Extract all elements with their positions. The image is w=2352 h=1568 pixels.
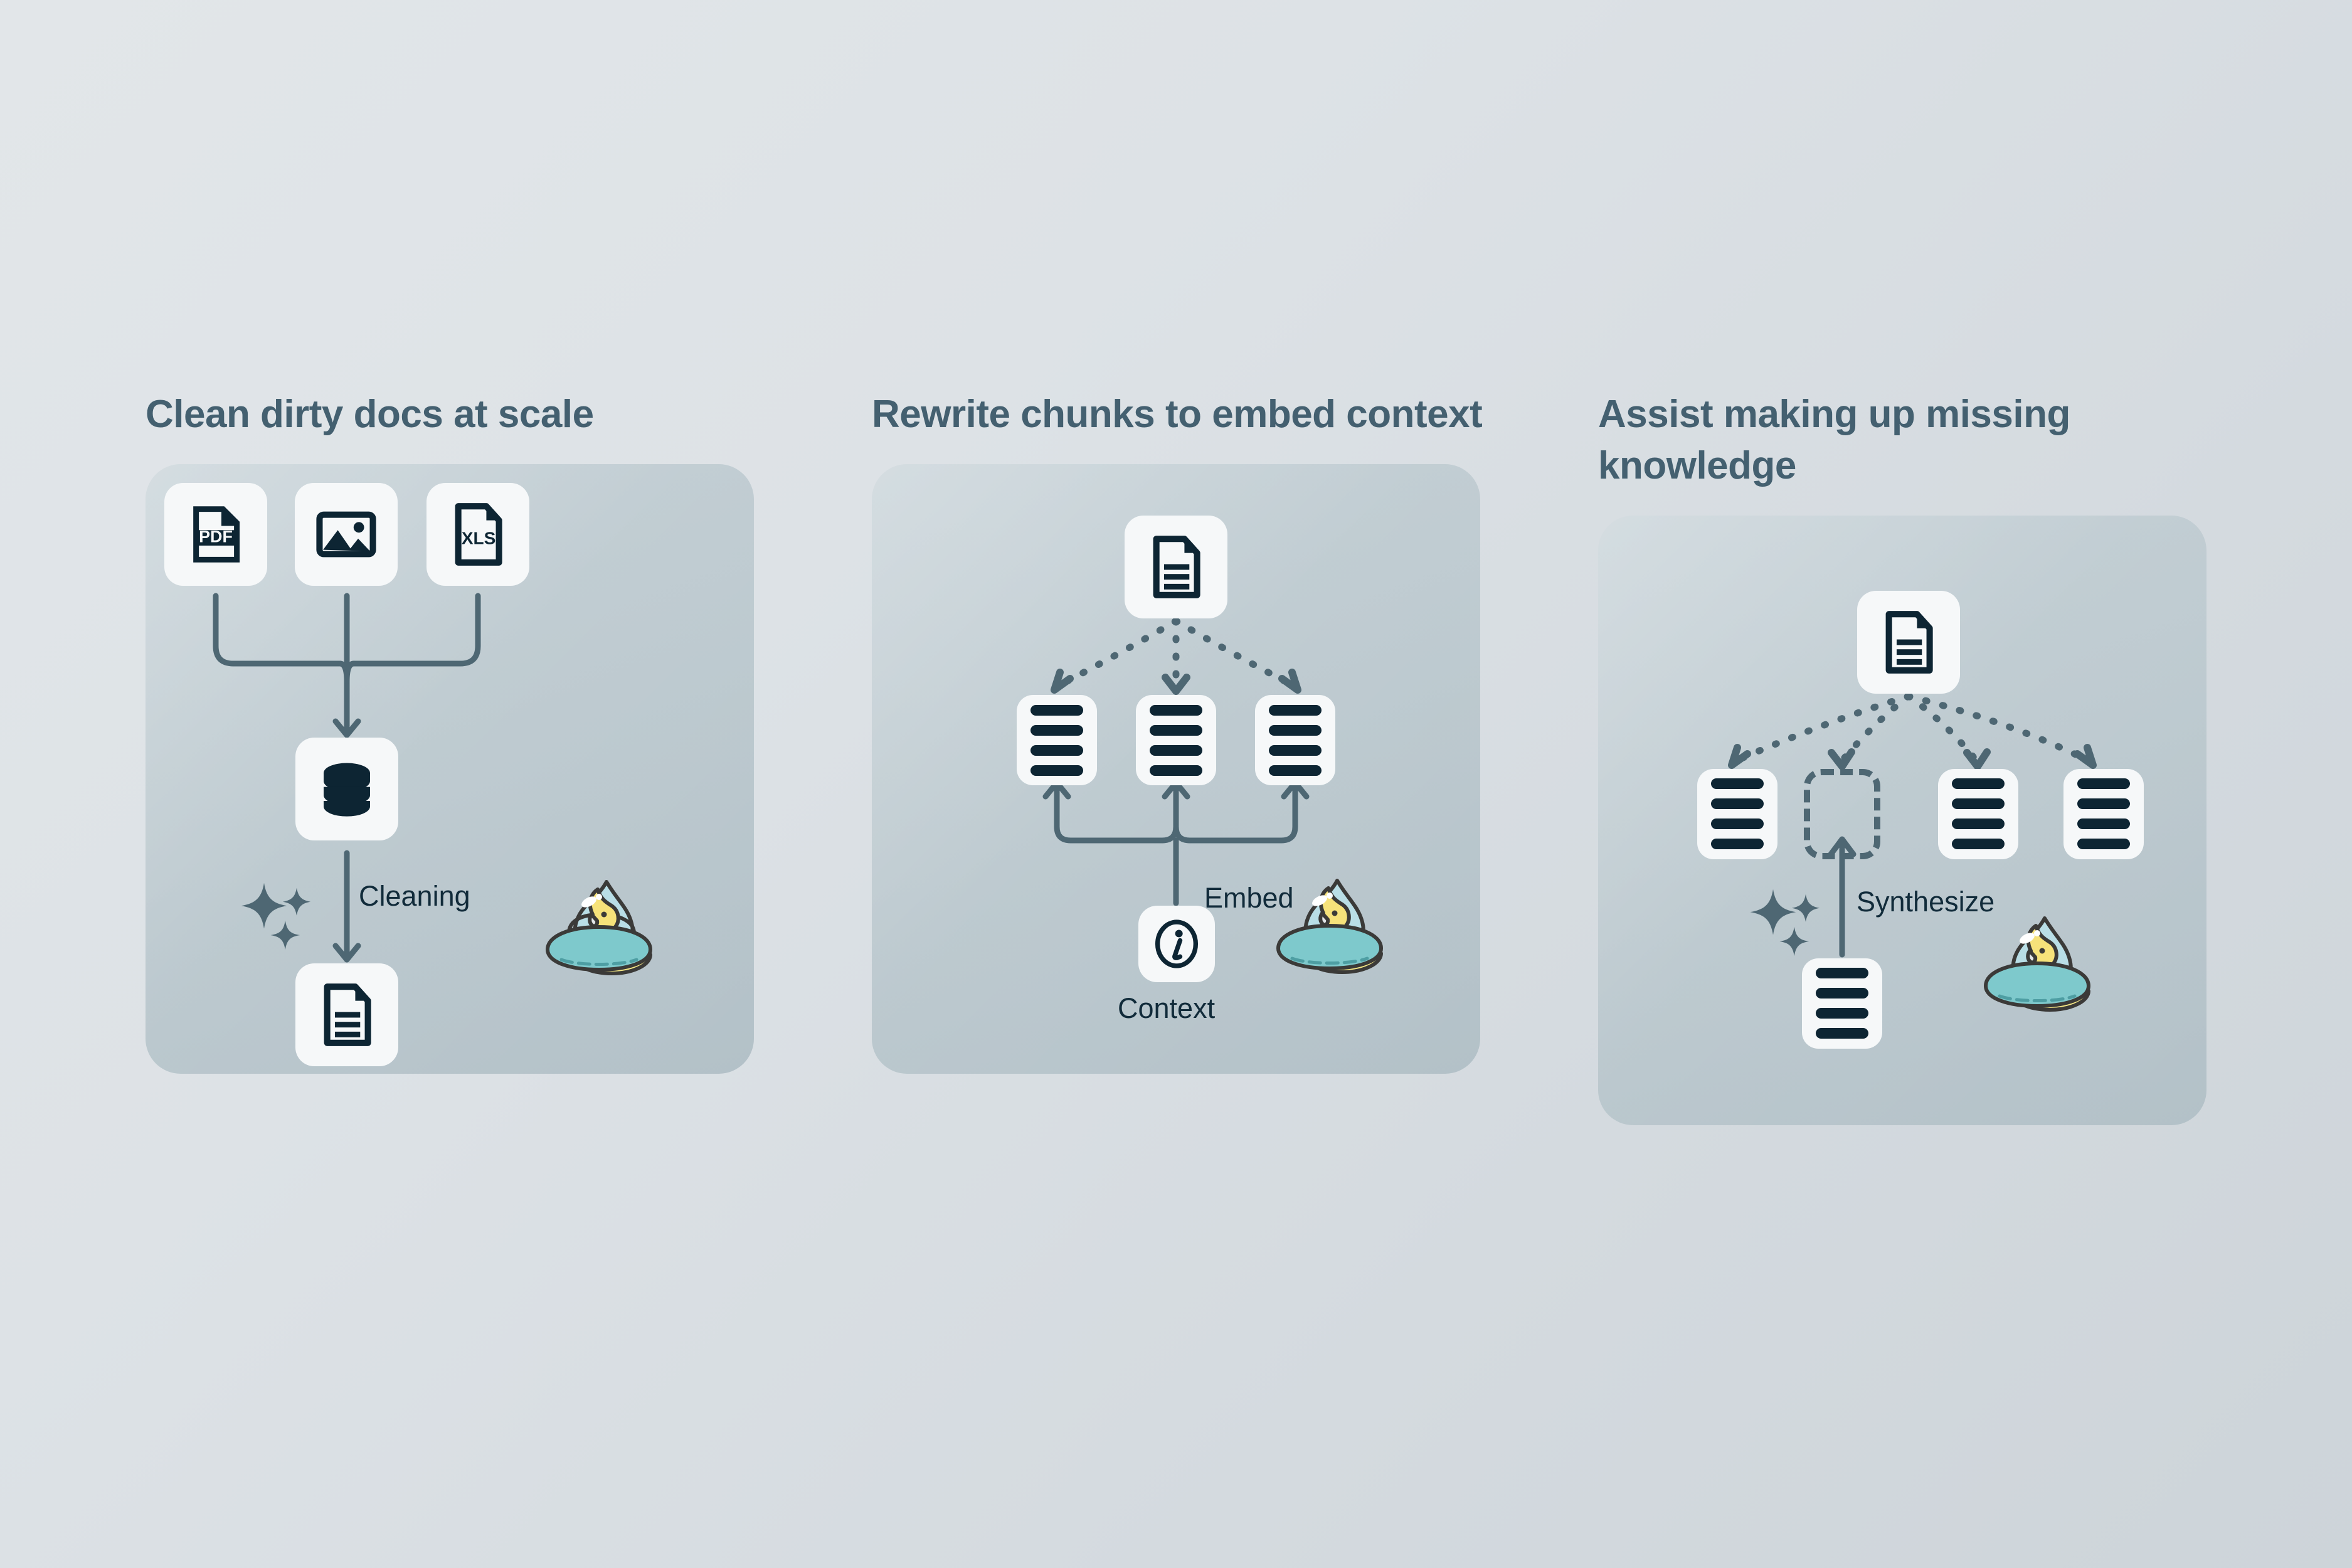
- image-file-icon: [311, 499, 381, 569]
- chunk-line: [1030, 765, 1083, 776]
- column-1-title: Clean dirty docs at scale: [146, 389, 785, 440]
- chunk-line: [2077, 839, 2130, 849]
- edge-label-cleaning: Cleaning: [359, 880, 470, 913]
- database-icon: [312, 754, 382, 824]
- chunk-card[interactable]: [2063, 769, 2144, 859]
- chunk-line: [1150, 725, 1202, 736]
- chunk-card[interactable]: [1697, 769, 1777, 859]
- sparkles-icon: [1749, 884, 1830, 966]
- chunk-line: [1816, 1008, 1868, 1019]
- missing-chunk-placeholder[interactable]: [1804, 769, 1880, 859]
- chunk-line: [1816, 968, 1868, 978]
- chunk-card[interactable]: [1136, 695, 1216, 785]
- output-document-tile[interactable]: [295, 963, 398, 1066]
- chunk-line: [1711, 839, 1764, 849]
- chunk-line: [2077, 798, 2130, 809]
- source-tile-xls[interactable]: XLS: [426, 483, 529, 586]
- supplement-chunk-card[interactable]: [1802, 958, 1882, 1049]
- panel-rewrite-chunks: Embed Context: [872, 464, 1480, 1074]
- svg-text:PDF: PDF: [199, 527, 233, 546]
- chunk-line: [1150, 765, 1202, 776]
- chunk-line: [1150, 745, 1202, 756]
- source-tile-pdf[interactable]: PDF: [164, 483, 267, 586]
- chunk-card[interactable]: [1255, 695, 1335, 785]
- column-2-title: Rewrite chunks to embed context: [872, 389, 1512, 440]
- xls-file-icon: XLS: [443, 499, 513, 569]
- chunk-line: [1269, 745, 1322, 756]
- chunk-line: [1030, 725, 1083, 736]
- chunk-line: [1269, 765, 1322, 776]
- chunk-line: [1150, 705, 1202, 716]
- chunk-line: [2077, 818, 2130, 829]
- alien-bird-ufo-mascot: [1962, 909, 2112, 1035]
- chunk-line: [1952, 818, 2005, 829]
- column-assist-missing: Assist making up missing knowledge: [1598, 389, 2238, 1125]
- column-3-title: Assist making up missing knowledge: [1598, 389, 2238, 492]
- column-rewrite-chunks: Rewrite chunks to embed context: [872, 389, 1512, 1074]
- chunk-line: [2077, 778, 2130, 789]
- source-document-tile[interactable]: [1857, 591, 1960, 694]
- document-icon: [1141, 532, 1211, 602]
- chunk-line: [1030, 705, 1083, 716]
- chunk-line: [1711, 818, 1764, 829]
- chunk-line: [1952, 839, 2005, 849]
- column-clean-docs: Clean dirty docs at scale: [146, 389, 785, 1074]
- label-context: Context: [1118, 992, 1215, 1025]
- context-info-tile[interactable]: [1138, 906, 1215, 982]
- info-icon: [1148, 915, 1205, 973]
- diagram-board: Clean dirty docs at scale: [0, 0, 2352, 1568]
- chunk-line: [1269, 705, 1322, 716]
- database-tile[interactable]: [295, 738, 398, 840]
- source-document-tile[interactable]: [1125, 516, 1227, 618]
- chunk-line: [1816, 988, 1868, 999]
- panel-clean-docs: PDF XLS: [146, 464, 754, 1074]
- svg-text:XLS: XLS: [462, 529, 495, 548]
- source-tile-image[interactable]: [295, 483, 398, 586]
- document-icon: [312, 980, 382, 1050]
- chunk-line: [1952, 798, 2005, 809]
- pdf-file-icon: PDF: [181, 499, 251, 569]
- sparkles-icon: [240, 878, 321, 960]
- chunk-line: [1269, 725, 1322, 736]
- chunk-line: [1711, 778, 1764, 789]
- chunk-line: [1816, 1028, 1868, 1039]
- document-icon: [1873, 607, 1944, 677]
- alien-bird-ufo-mascot: [1254, 872, 1405, 997]
- alien-bird-ufo-mascot: [524, 873, 674, 999]
- chunk-card[interactable]: [1017, 695, 1097, 785]
- chunk-card[interactable]: [1938, 769, 2018, 859]
- chunk-line: [1952, 778, 2005, 789]
- chunk-line: [1711, 798, 1764, 809]
- chunk-line: [1030, 745, 1083, 756]
- panel-assist-missing: Synthesize: [1598, 516, 2206, 1125]
